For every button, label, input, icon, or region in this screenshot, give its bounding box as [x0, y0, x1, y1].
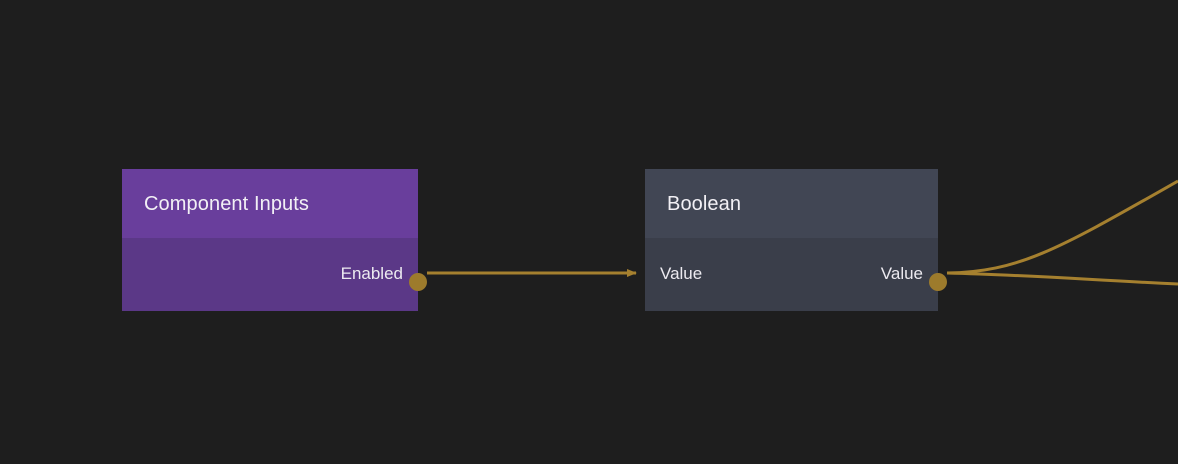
port-row-boolean-value: Value Value — [645, 262, 938, 284]
node-title-component-inputs: Component Inputs — [144, 194, 309, 214]
output-port-dot-value[interactable] — [929, 273, 947, 291]
node-boolean[interactable]: Boolean Value Value — [645, 169, 938, 311]
input-port-label-value: Value — [660, 265, 702, 282]
output-port-label-enabled: Enabled — [341, 265, 403, 282]
port-row-enabled: Enabled — [122, 262, 418, 284]
output-port-label-value: Value — [881, 265, 923, 282]
output-port-dot-enabled[interactable] — [409, 273, 427, 291]
node-body-component-inputs: Enabled — [122, 238, 418, 311]
node-header-component-inputs[interactable]: Component Inputs — [122, 169, 418, 238]
node-graph-canvas[interactable]: Component Inputs Enabled Boolean Value V… — [0, 0, 1178, 464]
node-title-boolean: Boolean — [667, 194, 741, 214]
node-header-boolean[interactable]: Boolean — [645, 169, 938, 238]
node-body-boolean: Value Value — [645, 238, 938, 311]
node-component-inputs[interactable]: Component Inputs Enabled — [122, 169, 418, 311]
connection-value-out-lower[interactable] — [947, 273, 1178, 284]
connection-value-out-upper[interactable] — [947, 181, 1178, 273]
